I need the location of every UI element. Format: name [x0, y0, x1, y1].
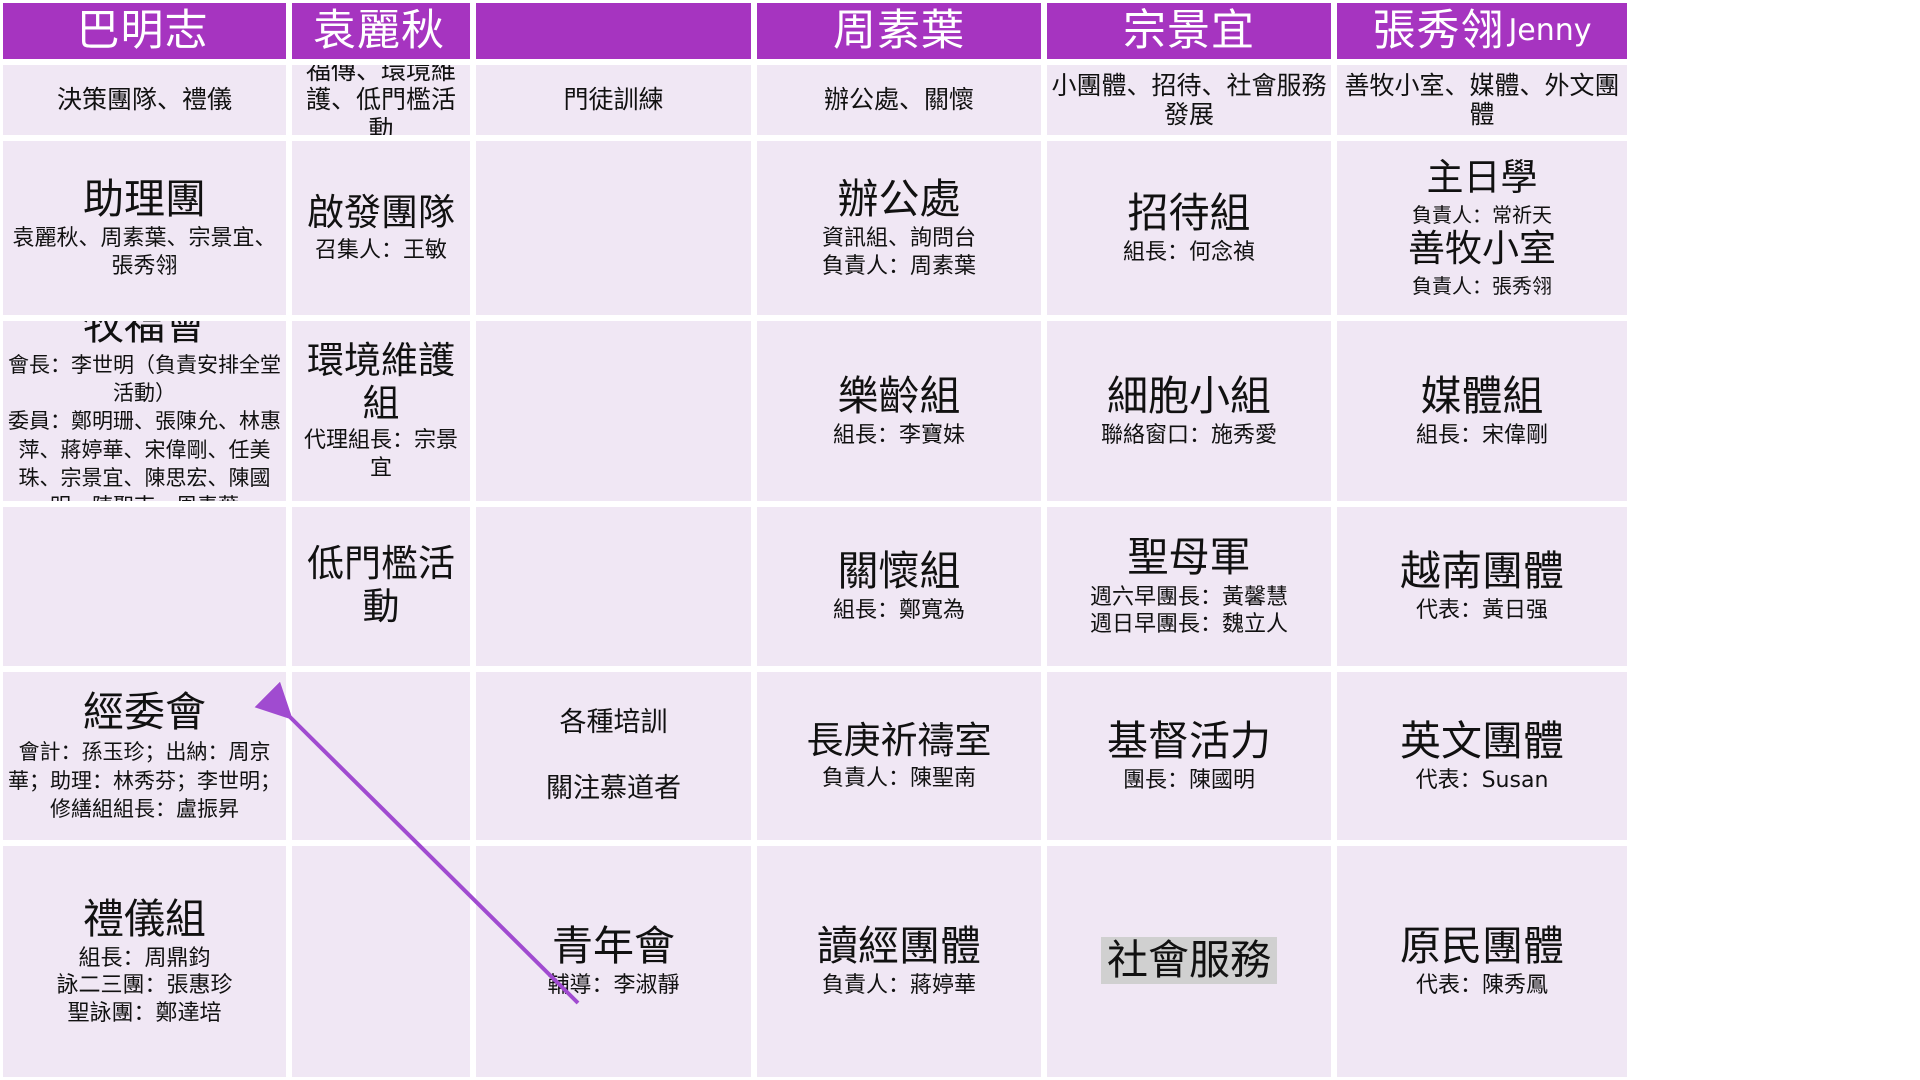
group-leader: 組長：周鼎鈞: [78, 945, 210, 973]
header-name-4: 周素葉: [833, 10, 965, 53]
training-line-1: 各種培訓: [560, 703, 668, 744]
group-chair: 會長：李世明（負責安排全堂活動）: [7, 351, 282, 407]
group-title: 媒體組: [1421, 373, 1544, 420]
group-title: 青年會: [552, 923, 675, 970]
group-choir-23: 詠二三團：張惠珍: [56, 972, 232, 1000]
header-name-1: 巴明志: [77, 10, 209, 53]
header-cell-5: 宗景宜: [1044, 0, 1334, 62]
group-title: 禮儀組: [83, 896, 206, 943]
empty-cell-c3r4: [473, 504, 754, 669]
group-cell-sunday-school-and-shepherd-room: 主日學 負責人：常祈天 善牧小室 負責人：張秀翎: [1334, 138, 1630, 318]
header-cell-6: 張秀翎 Jenny: [1334, 0, 1630, 62]
group-title-sunday-school: 主日學: [1427, 157, 1538, 200]
group-advisor: 輔導：李淑靜: [547, 972, 679, 1000]
group-title: 牧福會: [83, 318, 206, 349]
header-en-6: Jenny: [1508, 16, 1591, 46]
group-title: 讀經團體: [817, 923, 981, 970]
group-leader: 組長：李寶妹: [833, 422, 965, 450]
group-title: 辦公處: [838, 176, 961, 223]
group-cell-media: 媒體組 組長：宋偉剛: [1334, 318, 1630, 504]
group-cell-vietnamese: 越南團體 代表：黃日强: [1334, 504, 1630, 669]
group-cell-low-threshold-activity: 低門檻活動: [289, 504, 473, 669]
scope-cell-2: 福傳、環境維護、低門檻活動: [289, 62, 473, 138]
scope-cell-6: 善牧小室、媒體、外文團體: [1334, 62, 1630, 138]
empty-cell-c3r2: [473, 138, 754, 318]
group-cell-cell-groups: 細胞小組 聯絡窗口：施秀愛: [1044, 318, 1334, 504]
group-cell-assistant-team: 助理團 袁麗秋、周素葉、宗景宜、張秀翎: [0, 138, 289, 318]
group-cell-seniors: 樂齡組 組長：李寶妹: [754, 318, 1044, 504]
group-cell-english: 英文團體 代表：Susan: [1334, 669, 1630, 843]
group-title: 樂齡組: [838, 373, 961, 420]
group-leader: 代理組長：宗景宜: [296, 427, 466, 482]
group-title: 英文團體: [1400, 718, 1564, 765]
group-detail-2: 負責人：周素葉: [822, 253, 976, 281]
group-cell-alpha-team: 啟發團隊 召集人：王敏: [289, 138, 473, 318]
scope-text-3: 門徒訓練: [563, 85, 663, 115]
group-incharge: 負責人：蔣婷華: [822, 972, 976, 1000]
group-members: 袁麗秋、周素葉、宗景宜、張秀翎: [7, 225, 282, 280]
header-cell-2: 袁麗秋: [289, 0, 473, 62]
scope-text-1: 決策團隊、禮儀: [57, 85, 232, 115]
group-cell-reception: 招待組 組長：何念禎: [1044, 138, 1334, 318]
group-leader-sat: 週六早團長：黃馨慧: [1090, 584, 1288, 612]
group-cell-pastoral-welfare: 牧福會 會長：李世明（負責安排全堂活動） 委員：鄭明珊、張陳允、林惠萍、蔣婷華、…: [0, 318, 289, 504]
header-name-6: 張秀翎: [1372, 10, 1504, 53]
group-title: 細胞小組: [1107, 373, 1271, 420]
group-leader: 團長：陳國明: [1123, 767, 1255, 795]
group-cell-legion-of-mary: 聖母軍 週六早團長：黃馨慧 週日早團長：魏立人: [1044, 504, 1334, 669]
group-cell-indigenous: 原民團體 代表：陳秀鳳: [1334, 843, 1630, 1080]
scope-cell-5: 小團體、招待、社會服務發展: [1044, 62, 1334, 138]
group-title-highlighted: 社會服務: [1101, 937, 1277, 984]
scope-text-4: 辦公處、關懷: [824, 85, 974, 115]
group-title: 聖母軍: [1128, 534, 1251, 581]
group-cell-changgung-prayer-room: 長庚祈禱室 負責人：陳聖南: [754, 669, 1044, 843]
group-title-shepherd-room: 善牧小室: [1408, 228, 1556, 271]
group-leader: 組長：宋偉剛: [1416, 422, 1548, 450]
group-rep: 代表：陳秀鳳: [1416, 972, 1548, 1000]
group-title: 基督活力: [1107, 718, 1271, 765]
group-choir-main: 聖詠團：鄭達培: [67, 1000, 221, 1028]
group-leader: 組長：何念禎: [1123, 239, 1255, 267]
group-cell-cursillo: 基督活力 團長：陳國明: [1044, 669, 1334, 843]
pastoral-welfare-overflow: [0, 504, 289, 669]
group-cell-environment: 環境維護組 代理組長：宗景宜: [289, 318, 473, 504]
group-title: 經委會: [83, 689, 206, 736]
empty-cell-c2r5: [289, 669, 473, 843]
scope-cell-4: 辦公處、關懷: [754, 62, 1044, 138]
group-cell-finance-committee: 經委會 會計：孫玉珍；出納：周京華；助理：林秀芬；李世明； 修繕組組長：盧振昇: [0, 669, 289, 843]
group-cell-care: 關懷組 組長：鄭寬為: [754, 504, 1044, 669]
scope-text-6: 善牧小室、媒體、外文團體: [1341, 71, 1623, 130]
group-incharge: 負責人：陳聖南: [822, 765, 976, 793]
header-cell-1: 巴明志: [0, 0, 289, 62]
training-line-2: 關注慕道者: [546, 769, 681, 810]
group-cell-youth: 青年會 輔導：李淑靜: [473, 843, 754, 1080]
group-cell-office: 辦公處 資訊組、詢問台 負責人：周素葉: [754, 138, 1044, 318]
org-chart-board: 巴明志 袁麗秋 周素葉 宗景宜 張秀翎 Jenny 決策團隊、禮儀 福傳、環境維…: [0, 0, 1920, 1080]
group-leader-sunday-school: 負責人：常祈天: [1412, 202, 1552, 228]
header-cell-3: [473, 0, 754, 62]
empty-cell-c2r6: [289, 843, 473, 1080]
group-leader-sun: 週日早團長：魏立人: [1090, 611, 1288, 639]
group-committee: 委員：鄭明珊、張陳允、林惠萍、蔣婷華、宋偉剛、任美珠、宗景宜、陳思宏、陳國明、陳…: [7, 407, 282, 504]
scope-text-5: 小團體、招待、社會服務發展: [1051, 71, 1327, 130]
group-leader: 組長：鄭寬為: [833, 597, 965, 625]
header-cell-4: 周素葉: [754, 0, 1044, 62]
group-title: 原民團體: [1400, 923, 1564, 970]
group-cell-social-service: 社會服務: [1044, 843, 1334, 1080]
group-contact: 聯絡窗口：施秀愛: [1101, 422, 1277, 450]
group-rep: 代表：Susan: [1416, 767, 1549, 795]
group-leader-shepherd-room: 負責人：張秀翎: [1412, 273, 1552, 299]
header-name-5: 宗景宜: [1123, 10, 1255, 53]
group-title: 環境維護組: [296, 340, 466, 425]
group-title: 助理團: [83, 176, 206, 223]
group-cell-bible-study: 讀經團體 負責人：蔣婷華: [754, 843, 1044, 1080]
group-title: 長庚祈禱室: [807, 720, 992, 763]
group-detail-1: 資訊組、詢問台: [822, 225, 976, 253]
header-name-2: 袁麗秋: [313, 10, 445, 53]
org-chart-grid: 巴明志 袁麗秋 周素葉 宗景宜 張秀翎 Jenny 決策團隊、禮儀 福傳、環境維…: [0, 0, 1920, 1080]
group-title: 招待組: [1128, 190, 1251, 237]
scope-cell-1: 決策團隊、禮儀: [0, 62, 289, 138]
group-title: 越南團體: [1400, 548, 1564, 595]
group-cell-liturgy: 禮儀組 組長：周鼎鈞 詠二三團：張惠珍 聖詠團：鄭達培: [0, 843, 289, 1080]
scope-cell-3: 門徒訓練: [473, 62, 754, 138]
group-cell-training: 各種培訓 關注慕道者: [473, 669, 754, 843]
group-title: 啟發團隊: [307, 192, 455, 235]
empty-cell-c3r3: [473, 318, 754, 504]
scope-text-2: 福傳、環境維護、低門檻活動: [296, 62, 466, 138]
group-maintenance-leader: 修繕組組長：盧振昇: [50, 795, 239, 823]
group-title: 低門檻活動: [296, 543, 466, 628]
group-title: 關懷組: [838, 548, 961, 595]
group-convener: 召集人：王敏: [315, 237, 447, 265]
group-finance-roles: 會計：孫玉珍；出納：周京華；助理：林秀芬；李世明；: [7, 738, 282, 794]
group-rep: 代表：黃日强: [1416, 597, 1548, 625]
